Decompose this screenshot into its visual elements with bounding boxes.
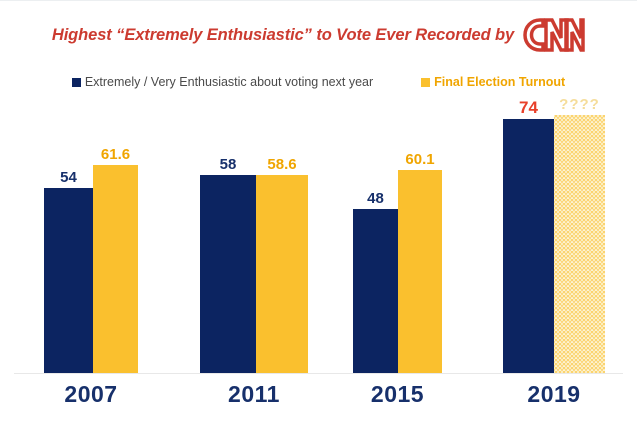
x-axis-label-2019: 2019 (503, 383, 605, 406)
bar-wrap-2019-gold: ???? (554, 97, 605, 373)
legend-label-enthusiastic: Extremely / Very Enthusiastic about voti… (85, 76, 373, 89)
bar-wrap-2007-navy: 54 (44, 97, 93, 373)
x-axis-labels: 2007 2011 2015 2019 (0, 383, 637, 417)
bar-value-2011-navy: 58 (220, 157, 237, 172)
x-axis-line (14, 373, 623, 374)
legend-item-enthusiastic[interactable]: Extremely / Very Enthusiastic about voti… (72, 76, 373, 89)
bar-2007-enthusiastic[interactable] (44, 188, 93, 373)
bar-2011-enthusiastic[interactable] (200, 175, 256, 373)
bar-group-2011: 58 58.6 (200, 97, 308, 373)
bar-2019-enthusiastic[interactable] (503, 119, 554, 373)
legend-label-turnout: Final Election Turnout (434, 76, 565, 89)
bar-wrap-2019-navy: 74 (503, 97, 554, 373)
bar-2015-turnout[interactable] (398, 170, 442, 373)
chart-legend: Extremely / Very Enthusiastic about voti… (0, 71, 637, 93)
legend-swatch-icon-gold (421, 78, 430, 87)
bar-value-2019-navy: 74 (519, 99, 538, 116)
page-title: Highest “Extremely Enthusiastic” to Vote… (52, 26, 514, 45)
legend-item-turnout[interactable]: Final Election Turnout (421, 76, 565, 89)
bar-wrap-2015-gold: 60.1 (398, 97, 442, 373)
x-axis-label-2007: 2007 (44, 383, 138, 406)
chart-container: Highest “Extremely Enthusiastic” to Vote… (0, 0, 637, 425)
bar-value-2019-gold-unknown: ???? (559, 97, 600, 112)
bar-wrap-2015-navy: 48 (353, 97, 398, 373)
bar-group-2015: 48 60.1 (353, 97, 442, 373)
bar-wrap-2011-gold: 58.6 (256, 97, 308, 373)
x-axis-label-2011: 2011 (200, 383, 308, 406)
bar-value-2015-navy: 48 (367, 191, 384, 206)
legend-swatch-icon-navy (72, 78, 81, 87)
bar-value-2007-gold: 61.6 (101, 147, 130, 162)
bar-2011-turnout[interactable] (256, 175, 308, 373)
bar-2015-enthusiastic[interactable] (353, 209, 398, 373)
bar-2007-turnout[interactable] (93, 165, 138, 373)
bar-wrap-2007-gold: 61.6 (93, 97, 138, 373)
bar-value-2015-gold: 60.1 (405, 152, 434, 167)
bar-group-2007: 54 61.6 (44, 97, 138, 373)
x-axis-label-2015: 2015 (353, 383, 442, 406)
bar-wrap-2011-navy: 58 (200, 97, 256, 373)
bar-2019-turnout-placeholder[interactable] (554, 115, 605, 373)
bar-group-2019: 74 ???? (503, 97, 605, 373)
cnn-logo (514, 17, 585, 53)
bar-value-2011-gold: 58.6 (267, 157, 296, 172)
plot-area: 54 61.6 58 58.6 48 (0, 97, 637, 374)
bar-value-2007-navy: 54 (60, 170, 77, 185)
chart-header: Highest “Extremely Enthusiastic” to Vote… (0, 13, 637, 57)
